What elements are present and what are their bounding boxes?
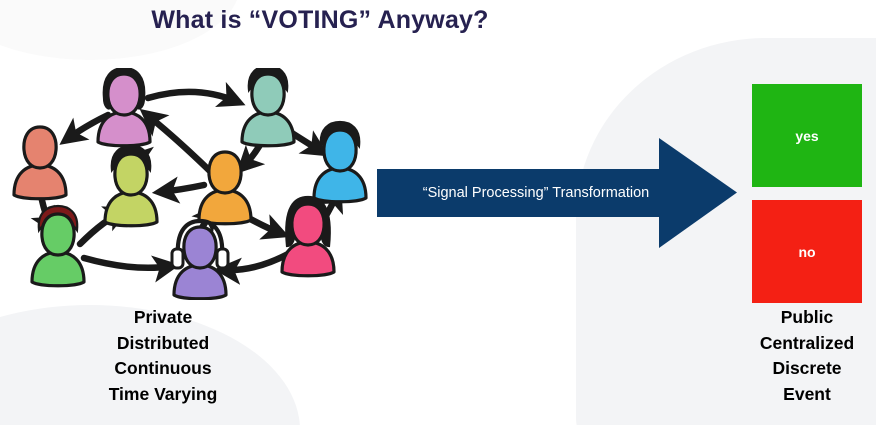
left-caption-line: Time Varying [38,382,288,408]
edge-orchid-to-teal [148,92,238,102]
left-caption-line: Distributed [38,331,288,357]
person-teal-icon [242,68,294,146]
arrow-shape-svg [377,138,737,248]
edge-magenta-to-violet [222,254,288,270]
right-caption-line: Discrete [737,356,876,382]
right-caption-line: Public [737,305,876,331]
left-caption: Private Distributed Continuous Time Vary… [38,305,288,408]
person-lime-icon [105,146,157,226]
edge-orange-to-lime [160,185,204,192]
edge-orange-to-orchid [146,114,213,174]
result-label-no: no [798,244,815,260]
network-svg [0,68,372,300]
left-caption-line: Continuous [38,356,288,382]
left-caption-line: Private [38,305,288,331]
right-caption-line: Event [737,382,876,408]
arrow-shape [377,138,737,248]
person-network-diagram [0,68,372,300]
right-caption: Public Centralized Discrete Event [737,305,876,408]
person-cyan-icon [314,122,366,202]
result-box-no[interactable]: no [752,200,862,303]
person-salmon-icon [14,127,66,199]
person-magenta-icon [282,197,334,276]
result-box-yes[interactable]: yes [752,84,862,187]
person-green-icon [32,206,84,286]
person-violet-icon [172,221,228,299]
result-boxes: yes no [752,84,862,303]
slide-canvas: What is “VOTING” Anyway? [0,0,876,425]
network-nodes [14,68,366,299]
person-orchid-icon [98,68,150,146]
right-caption-line: Centralized [737,331,876,357]
result-label-yes: yes [795,128,818,144]
transformation-arrow: “Signal Processing” Transformation [377,138,737,248]
page-title: What is “VOTING” Anyway? [0,6,640,35]
edge-green-to-violet [84,258,172,268]
